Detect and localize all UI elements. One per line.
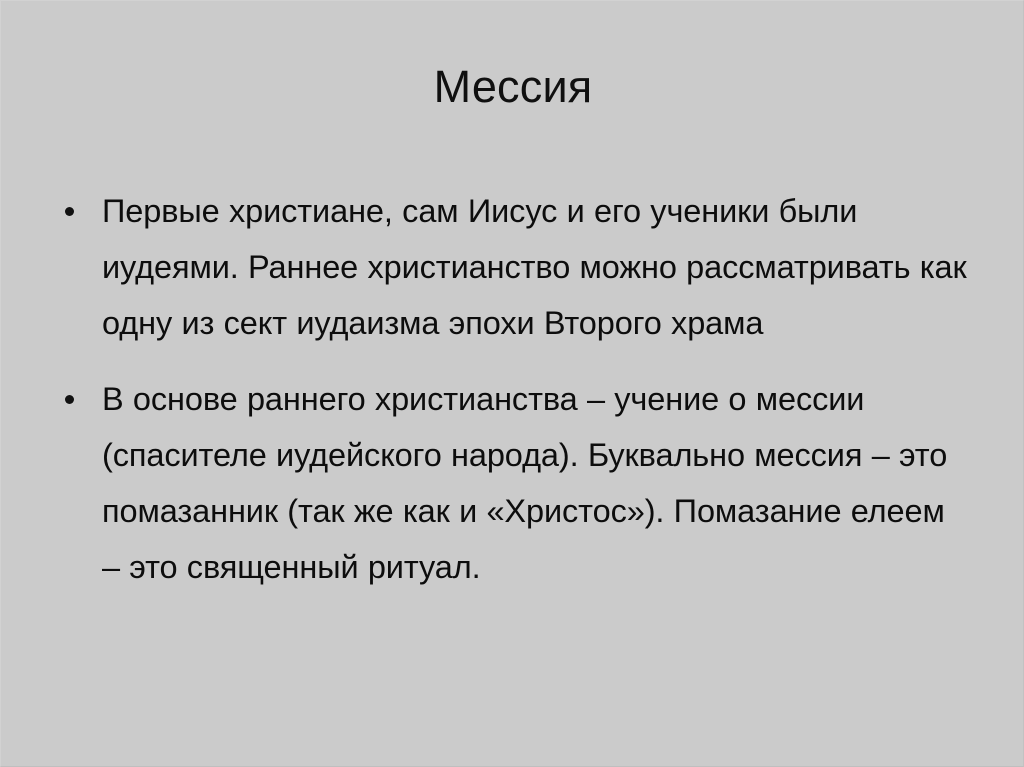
list-item: Первые христиане, сам Иисус и его ученик… [58,183,970,351]
page-title: Мессия [1,59,1024,115]
bullet-list: Первые христиане, сам Иисус и его ученик… [58,183,970,595]
list-item-text: Первые христиане, сам Иисус и его ученик… [102,183,970,351]
presentation-slide: Мессия Первые христиане, сам Иисус и его… [0,0,1024,767]
list-item-text: В основе раннего христианства – учение о… [102,371,970,595]
filled-circle-bullet-icon [65,395,74,404]
filled-circle-bullet-icon [65,207,74,216]
list-item: В основе раннего христианства – учение о… [58,371,970,595]
